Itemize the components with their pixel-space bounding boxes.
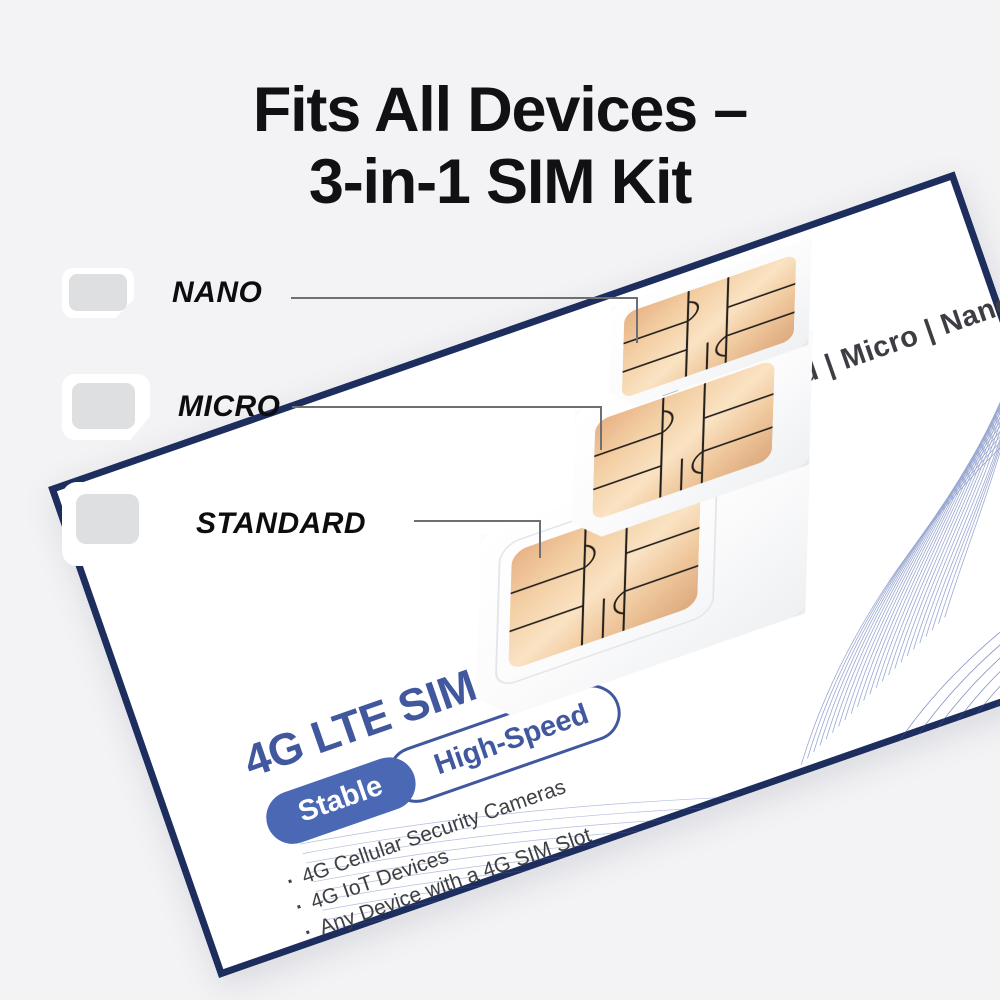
- leader-line-standard: [414, 520, 541, 558]
- nano-sim-icon-chip: [69, 274, 127, 311]
- page-title: Fits All Devices – 3-in-1 SIM Kit: [0, 74, 1000, 218]
- product-image: Fits All Devices – 3-in-1 SIM Kit: [0, 0, 1000, 1000]
- legend-label-standard: STANDARD: [196, 507, 366, 541]
- standard-sim-icon-chip: [76, 494, 139, 544]
- legend-row-standard: STANDARD: [62, 482, 366, 566]
- legend-row-micro: MICRO: [62, 374, 281, 440]
- standard-sim-icon: [62, 482, 170, 566]
- leader-line-nano: [291, 297, 638, 343]
- nano-sim-icon: [62, 268, 134, 318]
- legend-label-nano: NANO: [172, 276, 262, 310]
- leader-line-micro: [292, 406, 602, 450]
- legend-label-micro: MICRO: [178, 390, 281, 424]
- legend-row-nano: NANO: [62, 268, 262, 318]
- micro-sim-icon: [62, 374, 150, 440]
- micro-sim-icon-chip: [72, 383, 135, 429]
